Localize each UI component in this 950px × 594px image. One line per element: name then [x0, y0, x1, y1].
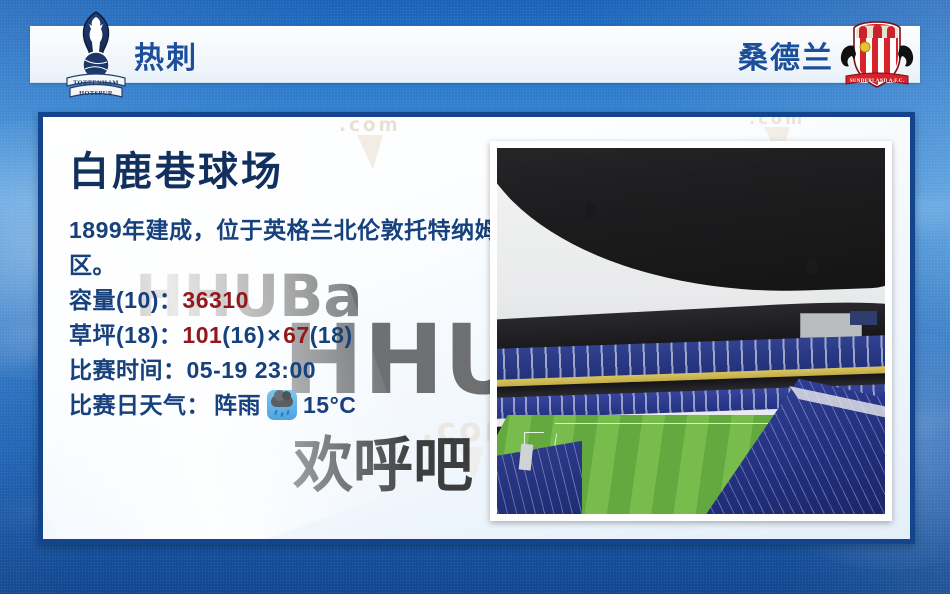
stadium-details: 白鹿巷球场 1899年建成，位于英格兰北伦敦托特纳姆区。 容量(10)：3631…	[69, 139, 499, 423]
matchday-weather-row: 比赛日天气：阵雨 15°C	[69, 388, 499, 423]
pitch-length: 101	[182, 322, 222, 348]
svg-text:SUNDERLAND A.F.C.: SUNDERLAND A.F.C.	[850, 79, 905, 84]
roof-hanger	[586, 203, 596, 219]
teams-header-bar: 热刺 桑德兰	[30, 26, 920, 83]
stadium-description: 1899年建成，位于英格兰北伦敦托特纳姆区。	[69, 213, 499, 283]
capacity-label: 容量(10)：	[69, 287, 182, 313]
cloud-shape	[271, 395, 293, 407]
raindrop	[274, 410, 277, 415]
watermark-domain: .com	[749, 112, 805, 127]
watermark-brand-cn: 欢呼吧	[293, 417, 473, 504]
pitch-size-row: 草坪(18)：101(16)×67(18)	[69, 318, 499, 353]
kickoff-time-value: 05-19 23:00	[187, 357, 317, 383]
roof-hanger	[807, 258, 817, 274]
match-info-card: 热刺 桑德兰 TOTTENHAM	[0, 0, 950, 594]
svg-text:HOTSPUR: HOTSPUR	[79, 90, 113, 97]
roof-hanger	[707, 229, 717, 245]
weather-condition: 阵雨	[214, 388, 261, 423]
multiply-symbol: ×	[265, 322, 283, 348]
watermark-brand-cn-text: 欢呼吧	[293, 431, 473, 501]
kickoff-time-row: 比赛时间：05-19 23:00	[69, 353, 499, 388]
stadium-info-panel: .com .com HHUBa HHUBa .com 欢呼吧 欢呼吧 白鹿巷球场…	[38, 112, 915, 544]
weather-label: 比赛日天气：	[69, 388, 210, 423]
photo-scoreboard-secondary	[850, 311, 877, 326]
kickoff-time-label: 比赛时间：	[69, 357, 187, 383]
watermark-domain: .com	[339, 117, 401, 135]
watermark-tail	[458, 447, 484, 481]
raindrop	[286, 410, 289, 415]
away-team-name: 桑德兰	[738, 33, 834, 77]
pitch-size-label: 草坪(18)：	[69, 322, 182, 348]
stadium-photo	[497, 148, 885, 514]
weather-temperature: 15°C	[303, 388, 356, 423]
tottenham-hotspur-crest-icon: TOTTENHAM HOTSPUR	[62, 8, 130, 102]
capacity-row: 容量(10)：36310	[69, 283, 499, 318]
rain-shower-icon	[267, 390, 297, 420]
stadium-photo-frame	[490, 141, 892, 521]
capacity-value: 36310	[182, 287, 248, 313]
raindrop	[280, 412, 283, 417]
pitch-width: 67	[283, 322, 310, 348]
sunderland-afc-crest-icon: SUNDERLAND A.F.C.	[836, 16, 918, 94]
stadium-name: 白鹿巷球场	[69, 139, 499, 197]
home-team-name: 热刺	[134, 33, 198, 77]
pitch-length-rank: (16)	[222, 322, 265, 348]
pitch-width-rank: (18)	[310, 322, 353, 348]
